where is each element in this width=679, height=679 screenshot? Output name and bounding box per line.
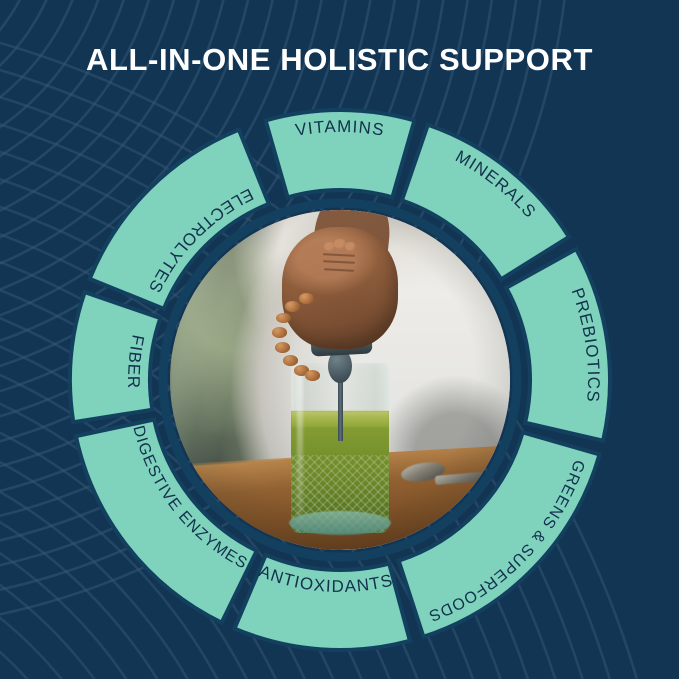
inner-ring-border: [163, 203, 517, 557]
wheel-segment-minerals[interactable]: [402, 125, 569, 280]
wheel-segments: VITAMINSMINERALSPREBIOTICSGREENS & SUPER…: [62, 102, 618, 658]
wheel-segment-electrolytes[interactable]: [90, 130, 269, 309]
page-title: ALL-IN-ONE HOLISTIC SUPPORT: [0, 44, 679, 75]
wheel-container: VITAMINSMINERALSPREBIOTICSGREENS & SUPER…: [62, 102, 618, 658]
wheel-segment-fiber[interactable]: [70, 292, 160, 422]
poster-canvas: ALL-IN-ONE HOLISTIC SUPPORT: [0, 0, 679, 679]
